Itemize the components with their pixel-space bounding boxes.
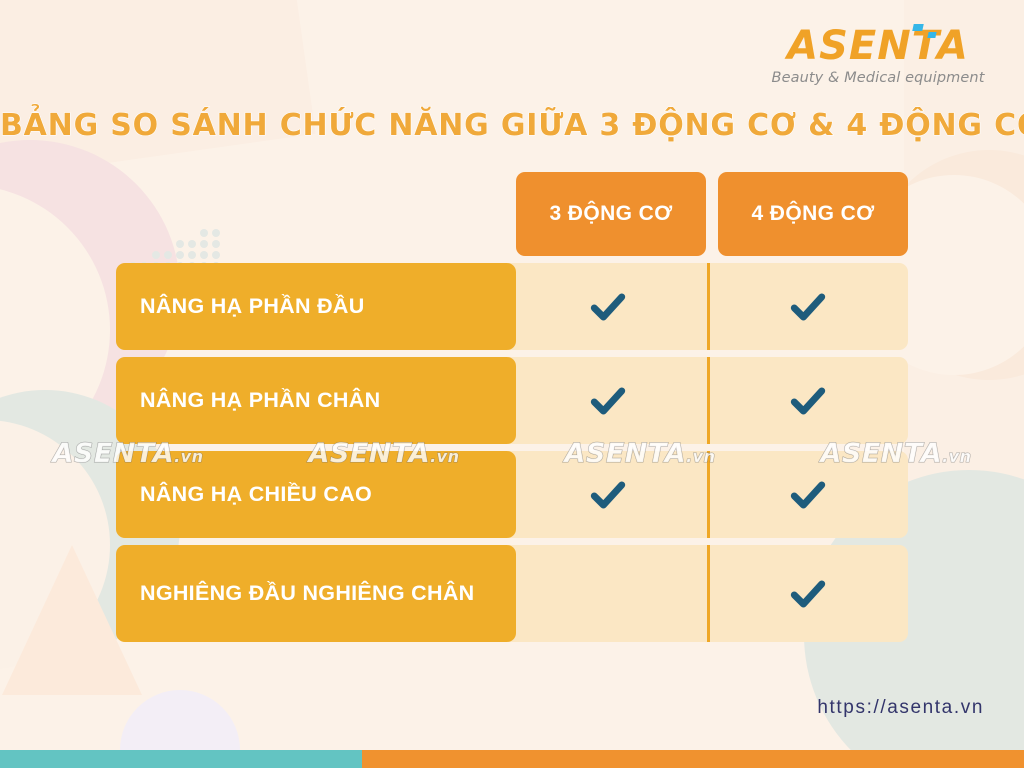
check-icon [586,473,630,517]
logo-spark-icon-secondary [927,32,936,38]
cell-3-motors [508,545,708,642]
footer-bar-teal [0,750,362,768]
check-icon [786,572,830,616]
table-row: NÂNG HẠ CHIỀU CAO [116,451,908,538]
comparison-table: 3 ĐỘNG CƠ 4 ĐỘNG CƠ NÂNG HẠ PHẦN ĐẦU NÂN… [116,172,908,649]
check-icon [586,379,630,423]
row-label: NÂNG HẠ CHIỀU CAO [116,451,516,538]
logo-tagline: Beauty & Medical equipment [768,70,988,86]
cell-4-motors [708,451,908,538]
website-url[interactable]: https://asenta.vn [817,697,984,719]
column-header-4-motors: 4 ĐỘNG CƠ [718,172,908,256]
brand-logo: ASENTA Beauty & Medical equipment [768,26,988,86]
row-label: NÂNG HẠ PHẦN CHÂN [116,357,516,444]
check-icon [786,473,830,517]
row-values [508,357,908,444]
row-values [508,545,908,642]
column-header-3-motors: 3 ĐỘNG CƠ [516,172,706,256]
cell-3-motors [508,451,708,538]
check-icon [586,285,630,329]
logo-wordmark: ASENTA [787,26,969,66]
cell-3-motors [508,263,708,350]
cell-4-motors [708,545,908,642]
row-values [508,263,908,350]
table-body: NÂNG HẠ PHẦN ĐẦU NÂNG HẠ PHẦN CHÂN [116,263,908,642]
footer-bar-orange [362,750,1024,768]
check-icon [786,285,830,329]
cell-3-motors [508,357,708,444]
table-row: NÂNG HẠ PHẦN CHÂN [116,357,908,444]
infographic-canvas: ASENTA Beauty & Medical equipment BẢNG S… [0,0,1024,768]
page-title: BẢNG SO SÁNH CHỨC NĂNG GIỮA 3 ĐỘNG CƠ & … [0,108,1024,143]
row-label: NÂNG HẠ PHẦN ĐẦU [116,263,516,350]
logo-spark-icon [912,24,923,31]
logo-text: ASENTA [787,23,969,69]
check-icon [786,379,830,423]
cell-4-motors [708,263,908,350]
cell-4-motors [708,357,908,444]
row-label: NGHIÊNG ĐẦU NGHIÊNG CHÂN [116,545,516,642]
footer-bar [0,750,1024,768]
row-values [508,451,908,538]
table-row: NGHIÊNG ĐẦU NGHIÊNG CHÂN [116,545,908,642]
table-header-row: 3 ĐỘNG CƠ 4 ĐỘNG CƠ [116,172,908,256]
table-row: NÂNG HẠ PHẦN ĐẦU [116,263,908,350]
